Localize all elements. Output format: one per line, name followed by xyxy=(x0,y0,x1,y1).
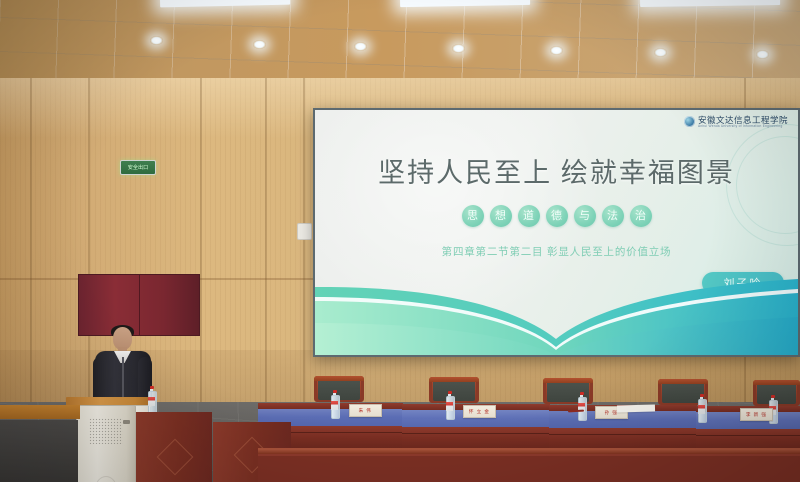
ceiling-shading xyxy=(0,0,800,86)
course-badge: 德 xyxy=(546,205,568,227)
table-front-groove xyxy=(402,433,550,434)
chair-top-rail xyxy=(658,379,708,384)
slide-subtitle: 第四章第二节第二目 彰显人民至上的价值立场 xyxy=(315,244,798,259)
chair-top-rail xyxy=(429,377,479,382)
desk-front-edge xyxy=(258,450,800,454)
open-book-graphic xyxy=(315,277,798,355)
university-logo-text: 安徽文达信息工程学院 Anhui Wenda University of Inf… xyxy=(698,116,788,128)
university-name-en: Anhui Wenda University of Information En… xyxy=(698,124,788,128)
course-badge: 与 xyxy=(574,205,596,227)
bottle-label xyxy=(148,397,155,406)
name-card: 李 新 强 xyxy=(740,408,773,421)
course-badge: 想 xyxy=(490,205,512,227)
bottle-label xyxy=(446,402,453,411)
course-badge: 思 xyxy=(462,205,484,227)
course-badge: 道 xyxy=(518,205,540,227)
table-front-groove xyxy=(549,434,697,435)
lecture-hall-photo: 安全出口 安徽文达信息工程学院 Anhui Wenda University o… xyxy=(0,0,800,482)
lectern-speaker-grille xyxy=(89,418,123,444)
lectern-front-console xyxy=(76,405,136,482)
university-logo: 安徽文达信息工程学院 Anhui Wenda University of Inf… xyxy=(684,116,788,128)
name-card-label: 朱 伟 xyxy=(359,407,372,413)
name-card: 怀 立 金 xyxy=(463,405,496,418)
book-svg xyxy=(315,277,798,355)
slide-title: 坚持人民至上 绘就幸福图景 xyxy=(315,157,798,189)
bottle-label xyxy=(698,405,705,414)
ceiling-downlight xyxy=(253,40,266,49)
panel-diamond-detail xyxy=(157,439,194,476)
name-card-label: 怀 立 金 xyxy=(469,408,490,414)
ceiling-downlight xyxy=(452,44,465,53)
university-seal-icon xyxy=(684,116,695,127)
table-front-groove xyxy=(696,435,800,436)
course-badge-row: 思 想 道 德 与 法 治 xyxy=(315,205,798,227)
chair-top-rail xyxy=(543,378,593,383)
foreground-wood-counter xyxy=(0,405,80,419)
exit-sign-label: 安全出口 xyxy=(128,165,148,170)
course-badge: 法 xyxy=(602,205,624,227)
ceiling-downlight xyxy=(654,48,667,57)
foreground-podium-block xyxy=(136,412,212,482)
foreground-dark-cabinet xyxy=(0,420,78,482)
door-split-line xyxy=(139,275,140,335)
projection-screen: 安徽文达信息工程学院 Anhui Wenda University of Inf… xyxy=(313,108,800,357)
lectern-emblem xyxy=(95,476,117,482)
course-badge: 治 xyxy=(630,205,652,227)
name-card: 朱 伟 xyxy=(349,404,382,417)
chair-top-rail xyxy=(753,380,800,385)
ceiling-downlight xyxy=(150,36,163,45)
wall-light-switch[interactable] xyxy=(297,223,312,240)
lectern-port-slot[interactable] xyxy=(123,420,130,424)
ceiling-downlight xyxy=(354,42,367,51)
bottle-label xyxy=(331,401,338,410)
name-card-label: 李 新 强 xyxy=(746,411,767,417)
paper-sheet xyxy=(617,405,655,413)
chair-top-rail xyxy=(314,376,364,381)
ceiling xyxy=(0,0,800,86)
foreground-desk-row xyxy=(258,448,800,482)
emergency-exit-sign: 安全出口 xyxy=(120,160,156,175)
ceiling-downlight xyxy=(550,46,563,55)
ceiling-downlight xyxy=(756,50,769,59)
presentation-slide: 安徽文达信息工程学院 Anhui Wenda University of Inf… xyxy=(315,110,798,355)
